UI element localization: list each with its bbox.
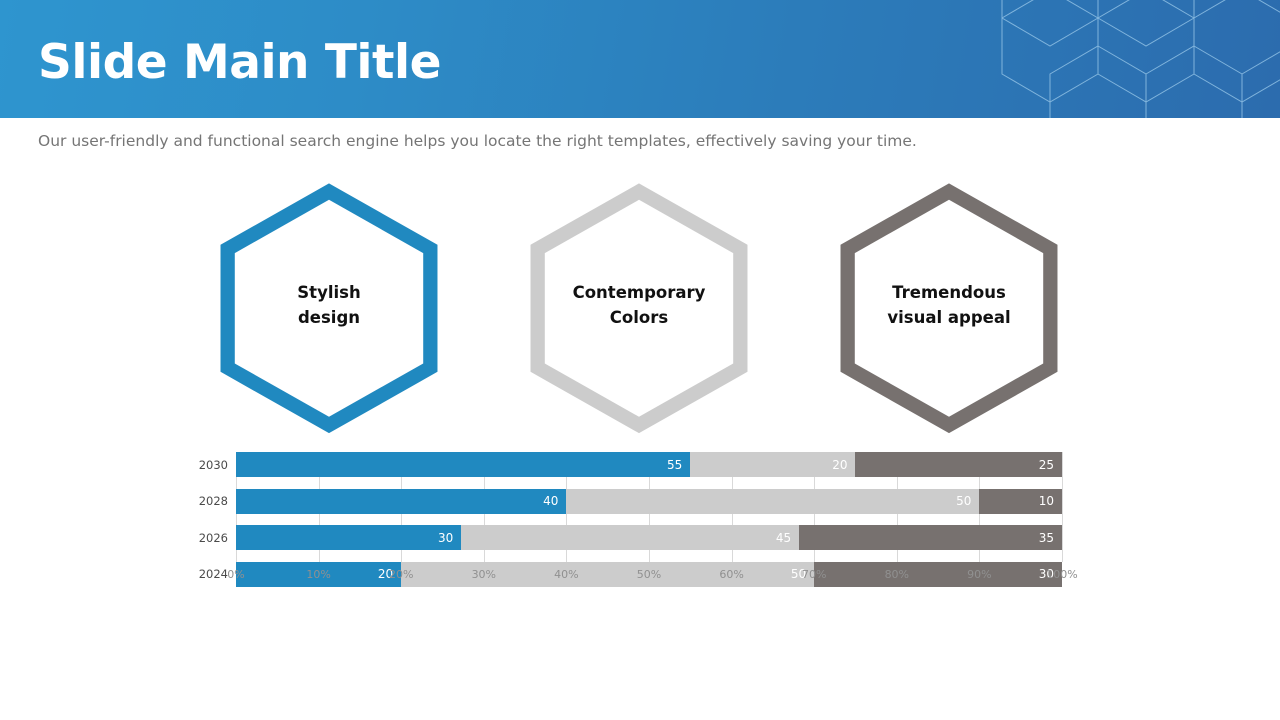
chart-bar-value-label: 35 [1039,531,1054,545]
header-band: Slide Main Title [0,0,1280,118]
chart-bar-segment[interactable]: 50 [566,489,979,514]
chart-bar-segment[interactable]: 40 [236,489,566,514]
page-title: Slide Main Title [38,38,441,87]
chart-bar-segment[interactable]: 45 [461,525,799,550]
y-axis-category-label: 2024 [168,562,228,587]
chart-bar-value-label: 40 [543,494,558,508]
chart-bar-segment[interactable]: 10 [979,489,1062,514]
y-axis-category-label: 2030 [168,452,228,477]
hexagon-tremendous-visual-appeal[interactable]: Tremendous visual appeal [834,196,1064,432]
chart-bar-segment[interactable]: 55 [236,452,690,477]
chart-bar-row[interactable]: 552025 [236,452,1062,477]
chart-bar-segment[interactable]: 25 [855,452,1062,477]
chart-bar-segment[interactable]: 35 [799,525,1062,550]
chart-bar-value-label: 25 [1039,458,1054,472]
chart-bar-value-label: 10 [1039,494,1054,508]
hexagon-contemporary-colors[interactable]: Contemporary Colors [524,196,754,432]
x-axis-tick-label: 60% [702,568,762,581]
chart-plot-area: 552025405010304535205030 [236,452,1062,562]
x-axis-tick-label: 100% [1032,568,1092,581]
chart-bar-value-label: 20 [832,458,847,472]
chart-bar-value-label: 50 [956,494,971,508]
chart-bar-row[interactable]: 304535 [236,525,1062,550]
chart-bar-segment[interactable]: 30 [814,562,1062,587]
hexagon-row: Stylish designContemporary ColorsTremend… [0,196,1280,436]
x-axis-tick-label: 30% [454,568,514,581]
stacked-bar-chart: 552025405010304535205030 0%10%20%30%40%5… [0,440,1280,655]
chart-bar-segment[interactable]: 20 [690,452,855,477]
x-axis-tick-label: 20% [371,568,431,581]
x-axis-tick-label: 90% [949,568,1009,581]
chart-bar-segment[interactable]: 30 [236,525,461,550]
chart-gridline [1062,452,1063,562]
x-axis-tick-label: 50% [619,568,679,581]
x-axis-tick-label: 40% [536,568,596,581]
chart-bar-value-label: 55 [667,458,682,472]
chart-bar-value-label: 30 [438,531,453,545]
x-axis-tick-label: 10% [289,568,349,581]
y-axis-category-label: 2026 [168,525,228,550]
hexagon-stylish-design[interactable]: Stylish design [214,196,444,432]
hexagon-outline-pattern-icon [980,0,1280,118]
slide-subtitle: Our user-friendly and functional search … [38,130,1238,153]
chart-bar-row[interactable]: 405010 [236,489,1062,514]
hexagon-shape-icon [524,196,754,432]
chart-bar-value-label: 45 [776,531,791,545]
x-axis-tick-label: 70% [784,568,844,581]
y-axis-category-label: 2028 [168,489,228,514]
hexagon-shape-icon [834,196,1064,432]
x-axis-tick-label: 80% [867,568,927,581]
hexagon-shape-icon [214,196,444,432]
